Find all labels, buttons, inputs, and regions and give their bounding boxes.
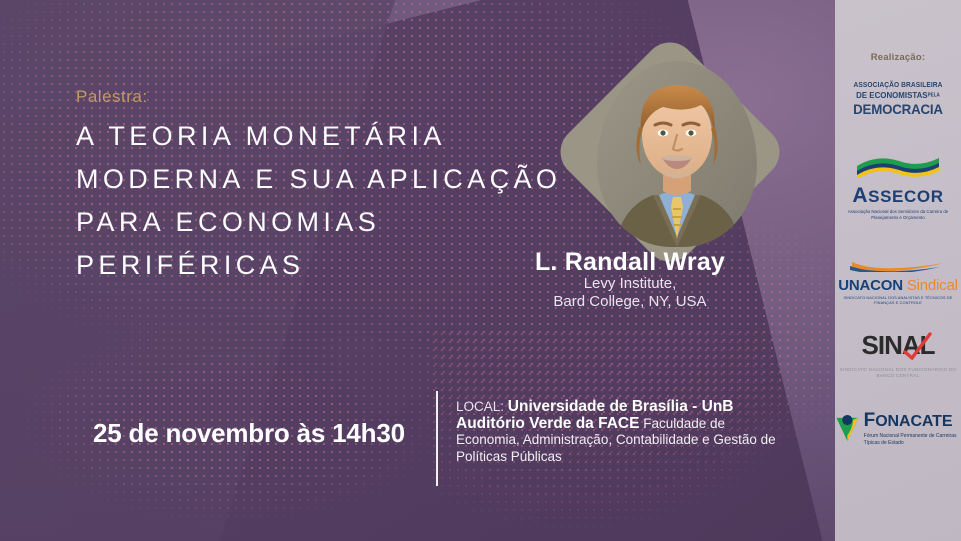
abed-line-1: ASSOCIAÇÃO BRASILEIRA xyxy=(840,80,956,89)
assecor-subtitle: Associação Nacional dos Servidores da Ca… xyxy=(835,209,961,220)
poster-main-panel: Palestra: A TEORIA MONETÁRIA MODERNA E S… xyxy=(0,0,835,541)
sinal-subtitle: SINDICATO NACIONAL DOS FUNCIONÁRIOS DO B… xyxy=(835,367,961,379)
logo-assecor[interactable]: ASSECOR Associação Nacional dos Servidor… xyxy=(835,152,961,220)
abed-line-3: DEMOCRACIA xyxy=(838,101,958,117)
fonacate-wordmark-cap: F xyxy=(864,410,876,431)
abed-line-2: DE ECONOMISTASPELA xyxy=(840,90,956,100)
assecor-wordmark-rest: SSECOR xyxy=(868,187,943,206)
sponsor-sidebar: Realização: ASSOCIAÇÃO BRASILEIRA DE ECO… xyxy=(835,0,961,541)
unacon-swoosh-icon xyxy=(848,258,948,272)
unacon-subtitle: SINDICATO NACIONAL DOS ANALISTAS E TÉCNI… xyxy=(835,295,961,305)
fonacate-subtitle: Fórum Nacional Permanente de Carreiras T… xyxy=(864,433,961,446)
unacon-word-accent: Sindical xyxy=(907,277,958,294)
unacon-word-main: UNACON xyxy=(838,277,903,294)
event-date: 25 de novembro às 14h30 xyxy=(93,418,405,449)
venue-line-2: Auditório Verde da FACE xyxy=(456,415,639,432)
sidebar-heading: Realização: xyxy=(835,52,961,63)
vertical-divider xyxy=(436,391,438,486)
fonacate-mark-icon xyxy=(835,408,860,448)
logo-unacon[interactable]: UNACON Sindical SINDICATO NACIONAL DOS A… xyxy=(835,258,961,305)
abed-line-2a: DE ECONOMISTAS xyxy=(856,90,927,100)
speaker-name: L. Randall Wray xyxy=(480,248,780,277)
local-label: LOCAL: xyxy=(456,399,504,414)
fonacate-wordmark-rest: ONACATE xyxy=(875,413,952,430)
fonacate-wordmark: FONACATE xyxy=(864,410,961,432)
kicker-label: Palestra: xyxy=(76,87,148,107)
assecor-wordmark-cap: A xyxy=(852,184,868,207)
venue-line-1: Universidade de Brasília - UnB xyxy=(508,398,734,415)
sinal-wordmark-icon: SINAL xyxy=(848,330,948,360)
unacon-wordmark: UNACON Sindical xyxy=(835,277,961,294)
logo-fonacate[interactable]: FONACATE Fórum Nacional Permanente de Ca… xyxy=(835,408,961,448)
assecor-flag-icon xyxy=(855,152,941,178)
speaker-affiliation: Levy Institute, Bard College, NY, USA xyxy=(480,275,780,311)
logo-abed[interactable]: ASSOCIAÇÃO BRASILEIRA DE ECONOMISTASPELA… xyxy=(835,80,961,117)
svg-text:SINAL: SINAL xyxy=(862,330,936,360)
portrait-illustration xyxy=(597,61,757,247)
event-poster: Palestra: A TEORIA MONETÁRIA MODERNA E S… xyxy=(0,0,961,541)
abed-line-2b: PELA xyxy=(928,93,940,99)
speaker-portrait xyxy=(573,55,773,255)
assecor-wordmark: ASSECOR xyxy=(835,184,961,208)
event-location-block: LOCAL: Universidade de Brasília - UnB Au… xyxy=(456,399,781,465)
logo-sinal[interactable]: SINAL SINDICATO NACIONAL DOS FUNCIONÁRIO… xyxy=(835,330,961,379)
portrait-photo xyxy=(597,61,757,247)
